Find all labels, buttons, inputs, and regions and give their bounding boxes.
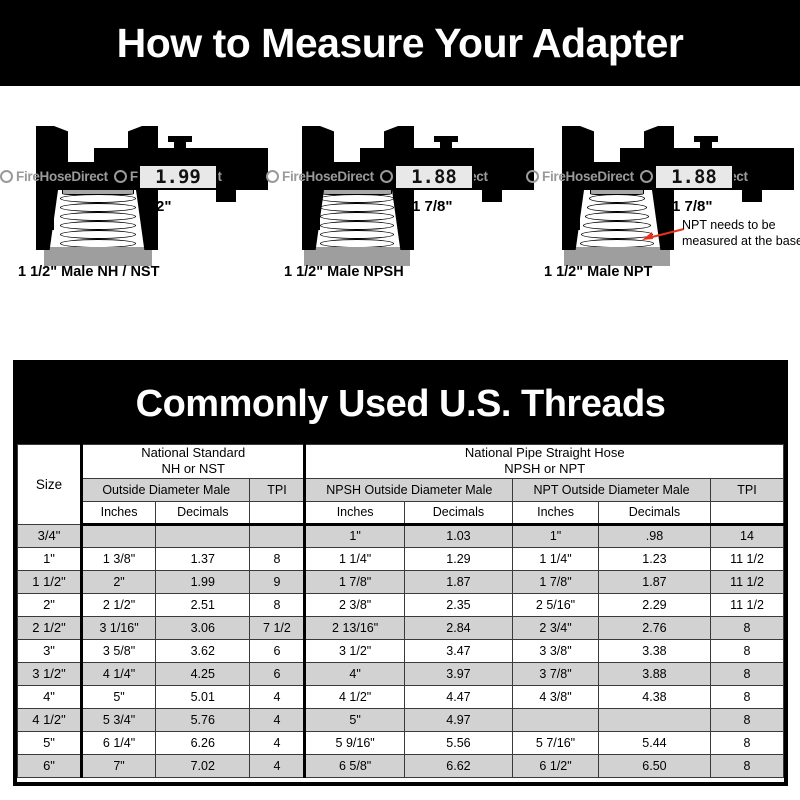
cell-npt-inches: 2 3/4" — [513, 616, 599, 639]
cell-size: 2 1/2" — [18, 616, 82, 639]
cell-npt-decimals: 5.44 — [598, 731, 710, 754]
caliper-fraction-label: 1 7/8" — [672, 198, 712, 215]
cell-nh-tpi — [250, 524, 305, 547]
cell-npt-decimals: 2.29 — [598, 593, 710, 616]
cell-npsh-inches: 5 9/16" — [305, 731, 404, 754]
cell-size: 3" — [18, 639, 82, 662]
cell-nh-inches: 5" — [82, 685, 156, 708]
group-line-1: National Standard — [83, 445, 303, 461]
cell-npsh-decimals: 2.35 — [404, 593, 512, 616]
cell-nh-decimals: 1.99 — [156, 570, 250, 593]
table-title: Commonly Used U.S. Threads — [136, 383, 666, 426]
cell-size: 5" — [18, 731, 82, 754]
cell-nh-tpi: 4 — [250, 685, 305, 708]
thread-ring — [60, 194, 136, 203]
cell-nh-decimals: 3.62 — [156, 639, 250, 662]
table-row: 3"3 5/8"3.6263 1/2"3.473 3/8"3.388 — [18, 639, 784, 662]
cell-npsh-decimals: 3.97 — [404, 662, 512, 685]
watermark-item: FireHoseDirect — [266, 169, 374, 184]
npt-note-line-1: NPT needs to be — [682, 218, 800, 234]
cell-size: 4 1/2" — [18, 708, 82, 731]
cell-nh-decimals: 5.76 — [156, 708, 250, 731]
caliper-lcd-display: 1.88 — [394, 164, 474, 190]
cell-size: 6" — [18, 754, 82, 777]
caliper-body: FireHoseDirect FireHoseDirect 1.88 1 7/8… — [274, 86, 540, 276]
table-row: 4"5"5.0144 1/2"4.474 3/8"4.388 — [18, 685, 784, 708]
thread-ring — [320, 230, 394, 239]
table-row: 2 1/2"3 1/16"3.067 1/22 13/16"2.842 3/4"… — [18, 616, 784, 639]
thread-ring — [60, 221, 136, 230]
table-row: 1 1/2"2"1.9991 7/8"1.871 7/8"1.8711 1/2 — [18, 570, 784, 593]
table-row: 3/4"1"1.031".9814 — [18, 524, 784, 547]
cell-nh-inches: 3 1/16" — [82, 616, 156, 639]
cell-npsh-decimals: 1.29 — [404, 547, 512, 570]
caliper-fixed-upper-jaw — [580, 126, 594, 164]
threads-table-body: 3/4"1"1.031".98141"1 3/8"1.3781 1/4"1.29… — [18, 524, 784, 777]
caliper-thumb-wheel — [440, 138, 452, 152]
cell-nh-decimals: 6.26 — [156, 731, 250, 754]
watermark-text: FireHoseDirect — [16, 169, 108, 184]
cell-npt-inches: 2 5/16" — [513, 593, 599, 616]
flame-logo-icon — [0, 170, 13, 183]
column-header-npt-decimals: Decimals — [598, 501, 710, 524]
cell-npsh-decimals: 6.62 — [404, 754, 512, 777]
cell-npt-decimals: 3.38 — [598, 639, 710, 662]
flame-logo-icon — [114, 170, 127, 183]
column-header-npsh-inches: Inches — [305, 501, 404, 524]
table-row: 4 1/2"5 3/4"5.7645"4.978 — [18, 708, 784, 731]
cell-npt-inches: 1 7/8" — [513, 570, 599, 593]
threaded-fitting-straight — [60, 184, 136, 266]
column-header-nh-tpi: TPI — [250, 478, 305, 501]
cell-nh-decimals: 4.25 — [156, 662, 250, 685]
cell-npt-tpi: 8 — [711, 639, 784, 662]
cell-npt-decimals — [598, 708, 710, 731]
column-group-national-pipe-straight-hose: National Pipe Straight Hose NPSH or NPT — [305, 445, 784, 479]
cell-npsh-decimals: 5.56 — [404, 731, 512, 754]
caliper-diagram-nh-nst: FireHoseDirect FireHoseDirect 1.99 2" 1 … — [8, 86, 274, 358]
caliper-fixed-jaw-tip — [36, 190, 58, 250]
cell-npsh-decimals: 2.84 — [404, 616, 512, 639]
thread-ring — [589, 194, 645, 203]
thread-ring — [60, 212, 136, 221]
flame-logo-icon — [526, 170, 539, 183]
thread-stack — [60, 184, 136, 248]
diagram-caption: 1 1/2" Male NPT — [544, 264, 652, 280]
page-root: How to Measure Your Adapter FireHoseDire… — [0, 0, 800, 800]
thread-ring — [587, 203, 647, 212]
column-header-nh-od-male: Outside Diameter Male — [82, 478, 250, 501]
npt-callout-arrow-icon — [638, 226, 686, 242]
caliper-sliding-jaw-tip — [136, 190, 158, 250]
cell-npt-inches: 3 7/8" — [513, 662, 599, 685]
cell-nh-inches: 1 3/8" — [82, 547, 156, 570]
thread-ring — [60, 203, 136, 212]
threads-table-head: Size National Standard NH or NST Nationa… — [18, 445, 784, 525]
table-title-bar: Commonly Used U.S. Threads — [17, 364, 784, 444]
cell-npt-decimals: .98 — [598, 524, 710, 547]
cell-npt-tpi: 8 — [711, 616, 784, 639]
cell-nh-tpi: 6 — [250, 639, 305, 662]
caliper-lcd-display: 1.99 — [138, 164, 218, 190]
cell-nh-tpi: 8 — [250, 593, 305, 616]
caliper-beam-foot — [482, 190, 502, 202]
cell-npt-tpi: 8 — [711, 731, 784, 754]
thread-ring — [60, 230, 136, 239]
cell-nh-tpi: 9 — [250, 570, 305, 593]
cell-nh-decimals: 2.51 — [156, 593, 250, 616]
cell-npsh-inches: 5" — [305, 708, 404, 731]
cell-npt-tpi: 8 — [711, 754, 784, 777]
diagram-caption: 1 1/2" Male NPSH — [284, 264, 404, 280]
cell-npt-inches: 6 1/2" — [513, 754, 599, 777]
cell-npsh-inches: 2 3/8" — [305, 593, 404, 616]
cell-nh-decimals — [156, 524, 250, 547]
thread-ring — [320, 203, 394, 212]
caliper-thumb-wheel — [700, 138, 712, 152]
npt-callout-note: NPT needs to be measured at the base — [682, 218, 800, 249]
diagram-caption: 1 1/2" Male NH / NST — [18, 264, 159, 280]
thread-ring — [320, 194, 394, 203]
group-line-2: NH or NST — [83, 461, 303, 477]
table-row: 3 1/2"4 1/4"4.2564"3.973 7/8"3.888 — [18, 662, 784, 685]
cell-nh-decimals: 7.02 — [156, 754, 250, 777]
cell-nh-decimals: 5.01 — [156, 685, 250, 708]
page-title: How to Measure Your Adapter — [117, 20, 684, 67]
column-header-size: Size — [18, 445, 82, 525]
caliper-diagram-npsh: FireHoseDirect FireHoseDirect 1.88 1 7/8… — [274, 86, 540, 358]
cell-nh-inches: 7" — [82, 754, 156, 777]
group-line-2: NPSH or NPT — [306, 461, 783, 477]
cell-npsh-inches: 4" — [305, 662, 404, 685]
caliper-body: FireHoseDirect FireHoseDirect 1.99 2" — [8, 86, 274, 276]
cell-npt-inches: 4 3/8" — [513, 685, 599, 708]
cell-npsh-inches: 4 1/2" — [305, 685, 404, 708]
cell-npt-decimals: 2.76 — [598, 616, 710, 639]
cell-size: 1 1/2" — [18, 570, 82, 593]
cell-npt-tpi: 11 1/2 — [711, 593, 784, 616]
watermark-text: FireHoseDirect — [282, 169, 374, 184]
caliper-fixed-upper-jaw — [320, 126, 334, 164]
threaded-fitting-straight — [320, 184, 394, 266]
cell-npt-tpi: 8 — [711, 685, 784, 708]
cell-npsh-inches: 1 7/8" — [305, 570, 404, 593]
cell-npt-tpi: 8 — [711, 708, 784, 731]
caliper-beam-foot — [742, 190, 762, 202]
page-banner: How to Measure Your Adapter — [0, 0, 800, 86]
threaded-fitting-tapered — [580, 184, 654, 266]
column-header-nh-decimals: Decimals — [156, 501, 250, 524]
table-header-row-subheaders: Outside Diameter Male TPI NPSH Outside D… — [18, 478, 784, 501]
cell-nh-tpi: 6 — [250, 662, 305, 685]
cell-npsh-decimals: 3.47 — [404, 639, 512, 662]
cell-npt-inches: 1" — [513, 524, 599, 547]
caliper-sliding-jaw-tip — [392, 190, 414, 250]
column-header-npt-tpi-blank — [711, 501, 784, 524]
cell-npt-inches: 3 3/8" — [513, 639, 599, 662]
caliper-fraction-label: 1 7/8" — [412, 198, 452, 215]
table-row: 2"2 1/2"2.5182 3/8"2.352 5/16"2.2911 1/2 — [18, 593, 784, 616]
cell-nh-inches: 3 5/8" — [82, 639, 156, 662]
npt-note-line-2: measured at the base — [682, 234, 800, 250]
cell-npt-decimals: 6.50 — [598, 754, 710, 777]
caliper-fraction-label: 2" — [156, 198, 171, 215]
thread-stack — [320, 184, 394, 248]
flame-logo-icon — [640, 170, 653, 183]
caliper-thumb-wheel — [174, 138, 186, 152]
cell-npt-inches: 1 1/4" — [513, 547, 599, 570]
cell-npt-tpi: 8 — [711, 662, 784, 685]
cell-size: 2" — [18, 593, 82, 616]
cell-npt-decimals: 1.23 — [598, 547, 710, 570]
table-header-row-groups: Size National Standard NH or NST Nationa… — [18, 445, 784, 479]
cell-npt-tpi: 11 1/2 — [711, 570, 784, 593]
cell-nh-inches: 6 1/4" — [82, 731, 156, 754]
column-header-npsh-decimals: Decimals — [404, 501, 512, 524]
cell-npt-decimals: 3.88 — [598, 662, 710, 685]
column-header-nh-inches: Inches — [82, 501, 156, 524]
thread-ring — [320, 221, 394, 230]
cell-npt-inches — [513, 708, 599, 731]
flame-logo-icon — [266, 170, 279, 183]
cell-nh-decimals: 1.37 — [156, 547, 250, 570]
cell-npsh-decimals: 1.03 — [404, 524, 512, 547]
cell-npt-tpi: 14 — [711, 524, 784, 547]
caliper-reading: 1.99 — [155, 166, 201, 188]
caliper-beam-foot — [216, 190, 236, 202]
cell-nh-tpi: 4 — [250, 731, 305, 754]
cell-nh-inches: 2 1/2" — [82, 593, 156, 616]
caliper-lcd-display: 1.88 — [654, 164, 734, 190]
cell-nh-inches: 2" — [82, 570, 156, 593]
threads-table: Size National Standard NH or NST Nationa… — [17, 444, 784, 778]
cell-nh-inches: 4 1/4" — [82, 662, 156, 685]
table-row: 6"7"7.0246 5/8"6.626 1/2"6.508 — [18, 754, 784, 777]
cell-size: 4" — [18, 685, 82, 708]
cell-nh-tpi: 7 1/2 — [250, 616, 305, 639]
cell-npt-decimals: 1.87 — [598, 570, 710, 593]
cell-size: 3/4" — [18, 524, 82, 547]
caliper-reading: 1.88 — [671, 166, 717, 188]
thread-ring — [585, 212, 649, 221]
column-header-npt-tpi: TPI — [711, 478, 784, 501]
cell-npsh-inches: 1" — [305, 524, 404, 547]
caliper-body: FireHoseDirect FireHoseDirect 1.88 1 7/8… — [534, 86, 800, 276]
cell-nh-tpi: 4 — [250, 754, 305, 777]
cell-npsh-decimals: 4.97 — [404, 708, 512, 731]
table-header-row-units: Inches Decimals Inches Decimals Inches D… — [18, 501, 784, 524]
table-row: 5"6 1/4"6.2645 9/16"5.565 7/16"5.448 — [18, 731, 784, 754]
column-header-npsh-od-male: NPSH Outside Diameter Male — [305, 478, 513, 501]
cell-npt-inches: 5 7/16" — [513, 731, 599, 754]
cell-nh-tpi: 8 — [250, 547, 305, 570]
column-header-npt-inches: Inches — [513, 501, 599, 524]
cell-size: 1" — [18, 547, 82, 570]
watermark-item: FireHoseDirect — [0, 169, 108, 184]
column-header-npt-od-male: NPT Outside Diameter Male — [513, 478, 711, 501]
cell-nh-inches: 5 3/4" — [82, 708, 156, 731]
cell-nh-tpi: 4 — [250, 708, 305, 731]
cell-nh-inches — [82, 524, 156, 547]
cell-npt-decimals: 4.38 — [598, 685, 710, 708]
caliper-reading: 1.88 — [411, 166, 457, 188]
thread-ring — [320, 212, 394, 221]
group-line-1: National Pipe Straight Hose — [306, 445, 783, 461]
diagram-band: FireHoseDirect — [0, 86, 800, 358]
threads-table-panel: Commonly Used U.S. Threads Size National… — [13, 360, 788, 786]
cell-nh-decimals: 3.06 — [156, 616, 250, 639]
column-group-national-standard: National Standard NH or NST — [82, 445, 305, 479]
cell-size: 3 1/2" — [18, 662, 82, 685]
cell-npsh-inches: 1 1/4" — [305, 547, 404, 570]
watermark-text: FireHoseDirect — [542, 169, 634, 184]
caliper-fixed-upper-jaw — [54, 126, 68, 164]
column-header-nh-tpi-blank — [250, 501, 305, 524]
cell-npsh-decimals: 1.87 — [404, 570, 512, 593]
cell-npsh-inches: 2 13/16" — [305, 616, 404, 639]
table-row: 1"1 3/8"1.3781 1/4"1.291 1/4"1.2311 1/2 — [18, 547, 784, 570]
caliper-diagram-npt: FireHoseDirect FireHoseDirect 1.88 1 7/8… — [534, 86, 800, 358]
cell-npsh-decimals: 4.47 — [404, 685, 512, 708]
cell-npsh-inches: 3 1/2" — [305, 639, 404, 662]
watermark-item: FireHoseDirect — [526, 169, 634, 184]
cell-npt-tpi: 11 1/2 — [711, 547, 784, 570]
cell-npsh-inches: 6 5/8" — [305, 754, 404, 777]
flame-logo-icon — [380, 170, 393, 183]
